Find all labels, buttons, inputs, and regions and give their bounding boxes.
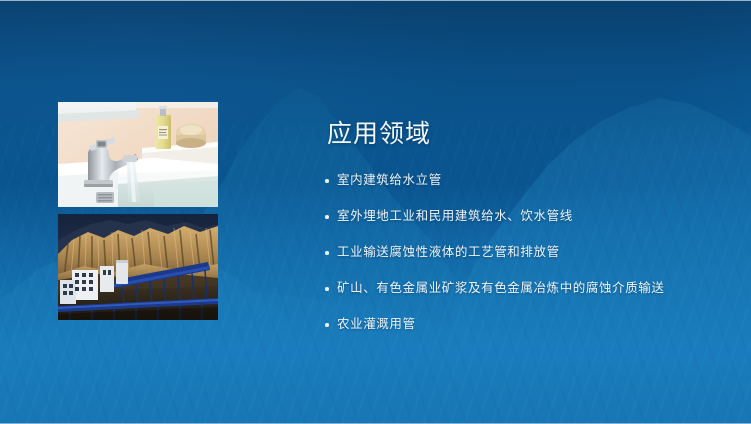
list-item: 室内建筑给水立管 xyxy=(323,173,733,188)
bullet-dot-icon xyxy=(325,323,329,327)
list-item: 矿山、有色金属业矿浆及有色金属冶炼中的腐蚀介质输送 xyxy=(323,281,733,296)
bullet-dot-icon xyxy=(325,287,329,291)
list-item-label: 室内建筑给水立管 xyxy=(337,173,442,187)
list-item-label: 矿山、有色金属业矿浆及有色金属冶炼中的腐蚀介质输送 xyxy=(337,281,665,295)
bathroom-faucet-photo xyxy=(58,102,218,207)
list-item: 室外埋地工业和民用建筑给水、饮水管线 xyxy=(323,209,733,224)
slide-canvas: 应用领域 室内建筑给水立管 室外埋地工业和民用建筑给水、饮水管线 工业输送腐蚀性… xyxy=(0,0,751,424)
list-item: 工业输送腐蚀性液体的工艺管和排放管 xyxy=(323,245,733,260)
application-list: 室内建筑给水立管 室外埋地工业和民用建筑给水、饮水管线 工业输送腐蚀性液体的工艺… xyxy=(323,173,733,332)
bullet-dot-icon xyxy=(325,251,329,255)
photo-stack xyxy=(58,102,218,320)
slide-top-edge xyxy=(0,0,751,1)
list-item: 农业灌溉用管 xyxy=(323,317,733,332)
bullet-dot-icon xyxy=(325,179,329,183)
list-item-label: 农业灌溉用管 xyxy=(337,317,416,331)
bullet-dot-icon xyxy=(325,215,329,219)
list-item-label: 工业输送腐蚀性液体的工艺管和排放管 xyxy=(337,245,560,259)
list-item-label: 室外埋地工业和民用建筑给水、饮水管线 xyxy=(337,209,573,223)
mining-pipeline-photo xyxy=(58,214,218,320)
content-block: 应用领域 室内建筑给水立管 室外埋地工业和民用建筑给水、饮水管线 工业输送腐蚀性… xyxy=(323,122,733,332)
page-title: 应用领域 xyxy=(327,122,733,147)
